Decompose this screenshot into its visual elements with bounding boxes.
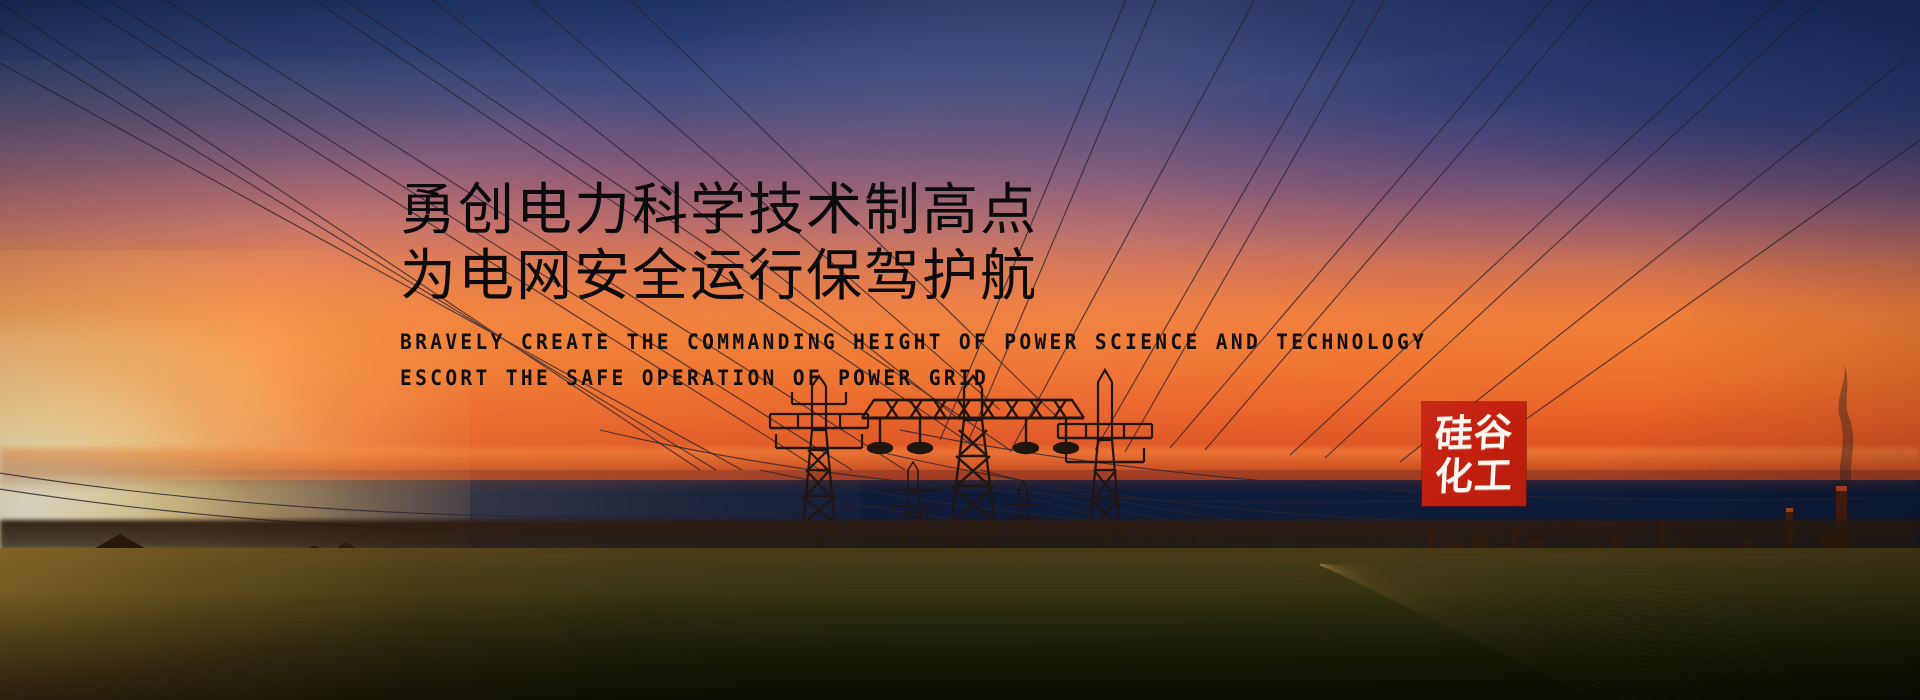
subheadline-en-line-2: ESCORT THE SAFE OPERATION OF POWER GRID <box>400 360 1404 396</box>
hero-banner: 勇创电力科学技术制高点 为电网安全运行保驾护航 BRAVELY CREATE T… <box>0 0 1920 700</box>
seal-chars-bottom: 化工 <box>1434 454 1514 497</box>
field-furrow <box>0 580 1920 581</box>
banner-copy: 勇创电力科学技术制高点 为电网安全运行保驾护航 BRAVELY CREATE T… <box>400 178 1480 396</box>
headline-cn-line-1: 勇创电力科学技术制高点 <box>400 178 1480 244</box>
subheadline-en-line-1: BRAVELY CREATE THE COMMANDING HEIGHT OF … <box>400 324 1404 360</box>
company-seal-logo[interactable]: 硅谷 化工 <box>1422 402 1526 506</box>
seal-chars-top: 硅谷 <box>1434 410 1514 455</box>
field-furrow <box>0 571 1920 572</box>
subheadline-en: BRAVELY CREATE THE COMMANDING HEIGHT OF … <box>400 324 1480 396</box>
horizon-haze <box>0 448 1920 492</box>
field-shadow-overlay <box>0 592 1920 700</box>
company-seal-text: 硅谷 化工 <box>1422 402 1526 506</box>
field-furrow <box>0 575 1920 576</box>
headline-cn-line-2: 为电网安全运行保驾护航 <box>400 244 1480 310</box>
